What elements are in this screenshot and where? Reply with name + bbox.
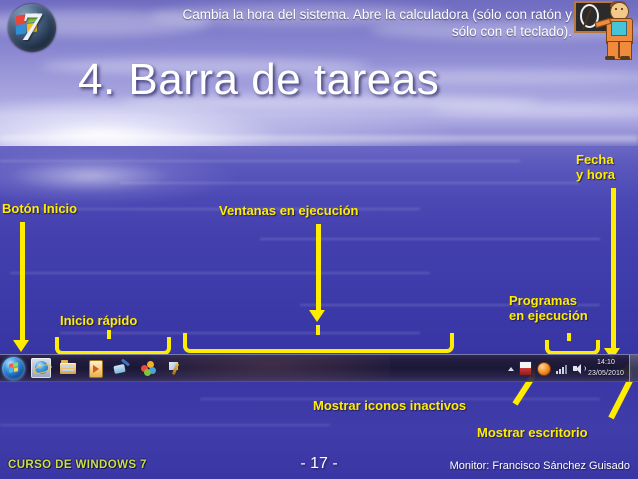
annotation-start-button-line — [20, 222, 25, 342]
clock-time: 14:10 — [586, 357, 626, 368]
update-icon[interactable] — [537, 362, 551, 376]
footer-author: Monitor: Francisco Sánchez Guisado — [450, 460, 630, 472]
annotation-running-windows-label: Ventanas en ejecución — [219, 203, 358, 218]
taskbar-glow — [150, 355, 390, 382]
quick-launch-explorer[interactable] — [58, 358, 78, 378]
windows-7-logo: 7 — [4, 2, 60, 54]
quick-launch-games[interactable] — [139, 358, 159, 378]
annotation-running-windows-bracket-nub — [316, 325, 320, 335]
system-tray[interactable] — [508, 355, 586, 382]
teacher-eye — [621, 8, 623, 10]
teacher-shoe — [620, 56, 630, 60]
slide-canvas: 7 Cambia la hora del sistema. Abre la ca… — [0, 0, 638, 479]
logo-seven-text: 7 — [21, 7, 51, 49]
folder-icon — [60, 363, 76, 374]
teacher-shoe — [605, 56, 615, 60]
annotation-running-programs-label: Programas en ejecución — [509, 293, 588, 323]
annotation-date-time-label: Fecha y hora — [576, 152, 615, 182]
annotation-running-programs-line2: en ejecución — [509, 308, 588, 323]
clock-date: 23/05/2010 — [586, 368, 626, 379]
start-button[interactable] — [2, 357, 25, 380]
teacher-leg-split — [618, 42, 620, 58]
annotation-running-windows-arrowhead — [309, 310, 325, 322]
annotation-running-programs-bracket — [545, 340, 600, 355]
sea-glow — [0, 146, 240, 206]
balls-icon — [141, 361, 157, 376]
annotation-quick-launch-bracket-nub — [107, 330, 111, 339]
annotation-date-time-line1: Fecha — [576, 152, 615, 167]
network-bars-icon[interactable] — [556, 363, 568, 374]
show-desktop-button[interactable] — [629, 355, 638, 382]
teacher-eye — [615, 8, 617, 10]
annotation-show-inactive-icons-label: Mostrar iconos inactivos — [313, 398, 466, 413]
annotation-quick-launch-bracket — [55, 337, 171, 355]
windows-flag-icon — [9, 362, 19, 374]
internet-explorer-icon — [35, 361, 48, 374]
media-player-icon — [89, 360, 103, 378]
annotation-show-desktop-label: Mostrar escritorio — [477, 425, 588, 440]
sea-streak — [0, 424, 330, 426]
teacher-clipart-icon — [574, 0, 636, 60]
quick-launch-media-player[interactable] — [85, 358, 105, 378]
quick-launch-internet-explorer[interactable] — [31, 358, 51, 378]
cloud-shape — [430, 104, 638, 114]
sea-streak — [10, 272, 430, 274]
annotation-running-programs-bracket-nub — [567, 333, 571, 341]
paint-icon — [114, 361, 130, 375]
show-hidden-icons-arrow-icon[interactable] — [508, 367, 514, 371]
annotation-start-button-label: Botón Inicio — [2, 201, 77, 216]
page-title: 4. Barra de tareas — [78, 55, 439, 105]
annotation-date-time-line — [611, 188, 616, 350]
volume-speaker-icon[interactable] — [573, 363, 586, 375]
header-note: Cambia la hora del sistema. Abre la calc… — [172, 6, 572, 40]
annotation-date-time-line2: y hora — [576, 167, 615, 182]
annotation-running-windows-line — [316, 224, 321, 312]
taskbar-clock[interactable]: 14:10 23/05/2010 — [586, 357, 626, 379]
annotation-start-button-arrowhead — [13, 340, 29, 352]
sea-streak — [260, 238, 600, 240]
annotation-running-programs-line1: Programas — [509, 293, 588, 308]
annotation-quick-launch-label: Inicio rápido — [60, 313, 137, 328]
teacher-shirt — [611, 21, 627, 36]
taskbar[interactable]: 14:10 23/05/2010 — [0, 354, 638, 382]
action-center-flag-icon[interactable] — [519, 361, 532, 376]
quick-launch-paint[interactable] — [112, 358, 132, 378]
annotation-running-windows-bracket — [183, 333, 454, 353]
quick-launch-notes[interactable] — [166, 358, 186, 378]
pen-icon — [168, 361, 184, 376]
